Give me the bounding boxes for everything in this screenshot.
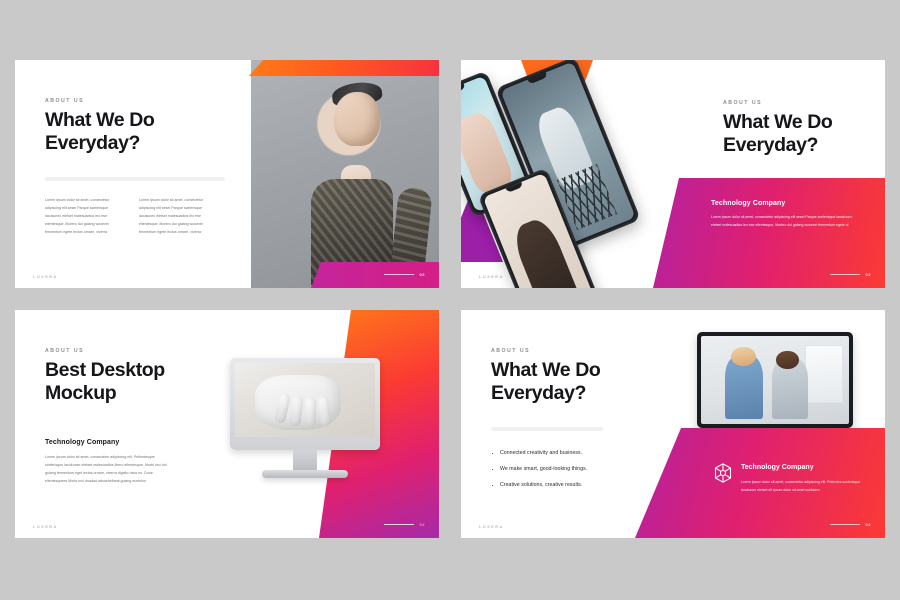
- slide-grid: 02 ABOUT US What We Do Everyday? Lorem i…: [0, 0, 900, 600]
- slide-4-photo: [689, 332, 861, 444]
- slide-1-paragraph-1: Lorem ipsum dolor sit amet, consectetur …: [45, 197, 125, 236]
- headline-line-2: Everyday?: [45, 132, 235, 155]
- monitor-stand-neck: [293, 450, 317, 472]
- slide-4-eyebrow: ABOUT US: [491, 348, 671, 354]
- brand-wordmark: LUXERA: [33, 274, 58, 279]
- monitor-stand-base: [262, 470, 348, 478]
- brand-wordmark: LUXERA: [33, 524, 58, 529]
- slide-3-footer: LUXERA 02: [15, 512, 439, 538]
- slide-1[interactable]: 02 ABOUT US What We Do Everyday? Lorem i…: [15, 60, 439, 288]
- slide-1-photo: [251, 60, 439, 288]
- slide-4-headline: What We Do Everyday?: [491, 359, 671, 405]
- headline-line-1: What We Do: [45, 109, 154, 131]
- slide-4-bullet-list: Connected creativity and business. We ma…: [491, 451, 671, 489]
- slide-2-eyebrow: ABOUT US: [723, 100, 873, 106]
- slide-1-paragraph-2: Lorem ipsum dolor sit amet, consectetur …: [139, 197, 219, 236]
- pager-dash-icon: [384, 524, 414, 525]
- headline-line-2: Mockup: [45, 382, 225, 405]
- list-item: Connected creativity and business.: [491, 451, 671, 456]
- slide-3[interactable]: ABOUT US Best Desktop Mockup Technology …: [15, 310, 439, 538]
- brand-wordmark: LUXERA: [479, 524, 504, 529]
- monitor-body: [230, 358, 380, 450]
- slide-4-footer: LUXERA: [461, 512, 885, 538]
- monitor-screen: [235, 363, 375, 437]
- slide-3-headline: Best Desktop Mockup: [45, 359, 225, 405]
- slide-1-headline: What We Do Everyday?: [45, 109, 235, 155]
- slide-4-divider: [491, 427, 603, 431]
- slide-3-photo: [230, 358, 380, 490]
- headline-line-1: What We Do: [491, 359, 600, 381]
- slide-1-accent-band-top: [249, 60, 439, 76]
- slide-3-subhead: Technology Company: [45, 439, 225, 446]
- laptop-screen: [701, 336, 849, 424]
- slide-4-panel-title: Technology Company: [741, 464, 861, 471]
- atom-hex-icon: [713, 462, 733, 484]
- slide-1-eyebrow: ABOUT US: [45, 98, 235, 104]
- headline-line-2: Everyday?: [491, 382, 671, 405]
- slide-3-pager: 02: [384, 522, 425, 527]
- list-item: Creative solutions, creative results.: [491, 483, 671, 488]
- slide-1-footer: LUXERA: [15, 262, 439, 288]
- slide-2-headline: What We Do Everyday?: [723, 111, 873, 157]
- headline-line-1: Best Desktop: [45, 359, 165, 381]
- slide-4-panel-body: Lorem ipsum dolor sit amet, consectetur …: [741, 478, 863, 494]
- page-number: 02: [420, 522, 425, 527]
- slide-3-paragraph: Lorem ipsum dolor sit amet, consectetur …: [45, 454, 173, 486]
- slide-3-eyebrow: ABOUT US: [45, 348, 225, 354]
- slide-2-panel-title: Technology Company: [711, 200, 859, 207]
- brand-wordmark: LUXERA: [479, 274, 504, 279]
- robot-head-shape: [334, 92, 380, 146]
- headline-line-1: What We Do: [723, 111, 832, 133]
- slide-2[interactable]: ABOUT US What We Do Everyday? Technology…: [461, 60, 885, 288]
- slide-1-divider: [45, 177, 225, 181]
- slide-4[interactable]: ABOUT US What We Do Everyday? Connected …: [461, 310, 885, 538]
- laptop-lid: [697, 332, 853, 428]
- headline-line-2: Everyday?: [723, 134, 873, 157]
- list-item: We make smart, good-looking things.: [491, 467, 671, 472]
- slide-2-panel-body: Lorem ipsum dolor sit amet, consectetur …: [711, 214, 861, 230]
